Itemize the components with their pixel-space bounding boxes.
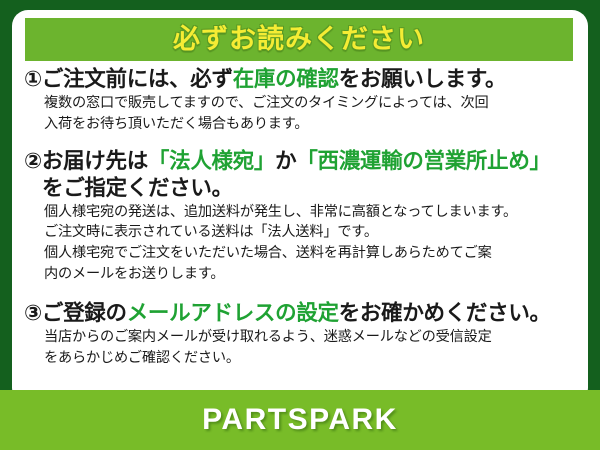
item-2-detail-line-4: 内のメールをお送りします。 — [44, 264, 580, 285]
item-1-detail-line-2: 入荷をお待ち頂いただく場合もあります。 — [44, 114, 580, 135]
item-2-highlight-2: 「西濃運輸の営業所止め」 — [296, 149, 550, 173]
item-3-detail-line-1: 当店からのご案内メールが受け取れるよう、迷惑メールなどの受信設定 — [44, 327, 580, 348]
footer-bar: PARTSPARK — [0, 390, 600, 450]
item-2-detail: 個人様宅宛の発送は、追加送料が発生し、非常に高額となってしまいます。 ご注文時に… — [44, 202, 580, 284]
header-bar: 必ずお読みください — [25, 18, 573, 61]
item-3-marker: ③ — [24, 301, 42, 325]
item-1-detail-line-1: 複数の窓口で販売してますので、ご注文のタイミングによっては、次回 — [44, 93, 580, 114]
notice-banner: 必ずお読みください ①ご注文前には、必ず在庫の確認をお願いします。 複数の窓口で… — [0, 0, 600, 450]
item-1-marker: ① — [24, 67, 42, 91]
notice-item-3: ③ご登録のメールアドレスの設定をお確かめください。 当店からのご案内メールが受け… — [24, 300, 580, 368]
item-1-highlight: 在庫の確認 — [233, 67, 339, 91]
item-2-head-line-2: をご指定ください。 — [42, 175, 580, 201]
item-3-highlight: メールアドレスの設定 — [127, 301, 339, 325]
item-1-head-part1: ご注文前には、必ず — [42, 67, 233, 91]
item-2-heading: ②お届け先は「法人様宛」か「西濃運輸の営業所止め」をご指定ください。 — [24, 148, 580, 200]
item-3-detail: 当店からのご案内メールが受け取れるよう、迷惑メールなどの受信設定 をあらかじめご… — [44, 327, 580, 368]
header-title: 必ずお読みください — [173, 26, 425, 53]
item-2-detail-line-3: 個人様宅宛でご注文をいただいた場合、送料を再計算しあらためてご案 — [44, 243, 580, 264]
item-2-detail-line-2: ご注文時に表示されている送料は「法人送料」です。 — [44, 222, 580, 243]
notice-item-2: ②お届け先は「法人様宛」か「西濃運輸の営業所止め」をご指定ください。 個人様宅宛… — [24, 148, 580, 284]
item-1-heading: ①ご注文前には、必ず在庫の確認をお願いします。 — [24, 66, 580, 92]
brand-logo-text: PARTSPARK — [202, 403, 398, 437]
item-1-detail: 複数の窓口で販売してますので、ご注文のタイミングによっては、次回 入荷をお待ち頂… — [44, 93, 580, 134]
item-2-highlight-1: 「法人様宛」 — [148, 149, 275, 173]
item-3-detail-line-2: をあらかじめご確認ください。 — [44, 348, 580, 369]
item-3-head-part2: をお確かめください。 — [339, 301, 551, 325]
item-1-head-part2: をお願いします。 — [339, 67, 506, 91]
notice-item-1: ①ご注文前には、必ず在庫の確認をお願いします。 複数の窓口で販売してますので、ご… — [24, 66, 580, 134]
item-2-head-part1: お届け先は — [42, 149, 148, 173]
item-2-head-mid: か — [275, 149, 296, 173]
notice-body: ①ご注文前には、必ず在庫の確認をお願いします。 複数の窓口で販売してますので、ご… — [12, 66, 588, 373]
item-3-head-part1: ご登録の — [42, 301, 127, 325]
notice-panel: 必ずお読みください ①ご注文前には、必ず在庫の確認をお願いします。 複数の窓口で… — [12, 10, 588, 398]
item-3-heading: ③ご登録のメールアドレスの設定をお確かめください。 — [24, 300, 580, 326]
item-2-marker: ② — [24, 149, 42, 173]
item-2-detail-line-1: 個人様宅宛の発送は、追加送料が発生し、非常に高額となってしまいます。 — [44, 202, 580, 223]
